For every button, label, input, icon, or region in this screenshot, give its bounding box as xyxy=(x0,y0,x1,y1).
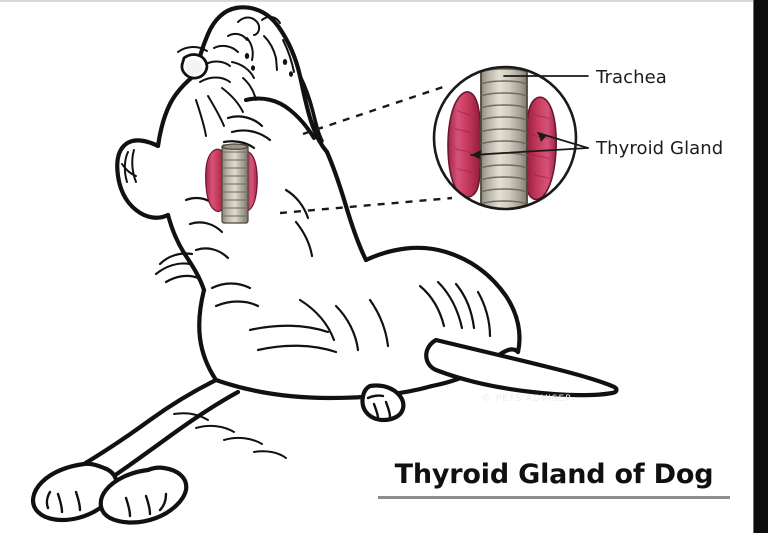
dog-tail-outline xyxy=(426,340,616,395)
label-thyroid-gland: Thyroid Gland xyxy=(596,138,723,159)
inset-thyroid-lobe-left xyxy=(448,92,481,197)
right-black-bar xyxy=(754,0,768,533)
throat-trachea-thyroid-group xyxy=(206,144,258,223)
throat-trachea-top-cap xyxy=(222,144,248,149)
dog-jowl-outline xyxy=(158,74,196,146)
dog-shoulder-wrinkles xyxy=(156,253,258,306)
dog-rear-foot xyxy=(363,385,404,420)
title-underline-rule xyxy=(378,496,730,499)
dog-chest-outline xyxy=(199,290,216,380)
dog-eye-pupil xyxy=(186,59,203,75)
dog-cheek-lines xyxy=(224,116,270,148)
dog-lip-detail xyxy=(196,88,243,136)
inset-trachea-tube xyxy=(481,62,527,214)
dog-neck-back-outline xyxy=(327,152,366,260)
dog-back-outline xyxy=(366,248,520,352)
dog-ear-outline xyxy=(117,140,168,217)
watermark: © PETS ADVISER xyxy=(482,394,572,404)
title-block: Thyroid Gland of Dog xyxy=(378,458,730,499)
dog-haunch-lines xyxy=(420,282,490,336)
illustration-canvas: Trachea Thyroid Gland © PETS ADVISER Thy… xyxy=(0,0,768,533)
dog-flank-lines xyxy=(250,300,388,352)
inset-magnifier xyxy=(434,60,576,215)
label-trachea: Trachea xyxy=(596,67,667,88)
figure-title: Thyroid Gland of Dog xyxy=(378,458,730,492)
dashed-connector-upper xyxy=(303,85,449,134)
